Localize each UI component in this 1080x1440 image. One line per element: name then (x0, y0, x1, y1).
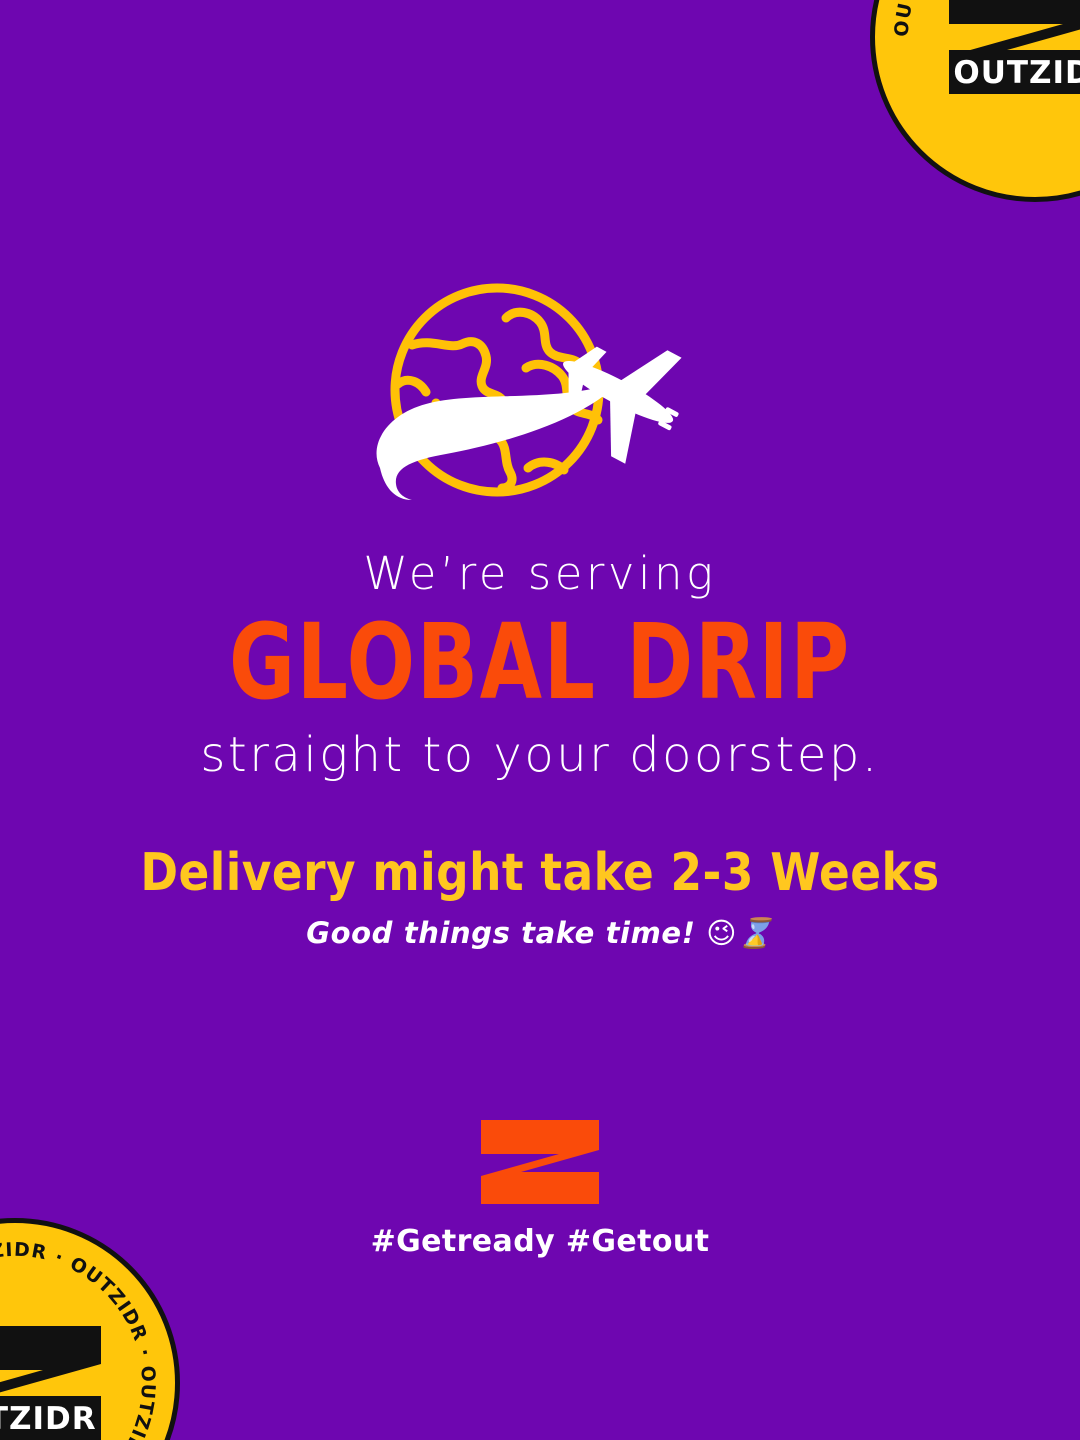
page-title: GLOBAL DRIP (76, 610, 1005, 714)
delivery-note: Delivery might take 2-3 Weeks (16, 845, 1064, 902)
outzidr-z-mark (477, 1118, 603, 1206)
outzidr-z-mark-black: OUTZIDR (937, 0, 1080, 98)
outzidr-z-mark-black: OUTZIDR (0, 1322, 113, 1440)
reassurance-text: Good things take time! 😉⌛ (0, 916, 1080, 951)
outzidr-sticker-badge-bottom-left: OUTZIDR · OUTZIDR · OUTZIDR · OUTZIDR · … (0, 1218, 180, 1440)
subhead-text: straight to your doorstep. (0, 728, 1080, 783)
brand-mark (477, 1118, 603, 1206)
badge-wordmark: OUTZIDR (953, 55, 1080, 91)
copy-block: We’re serving GLOBAL DRIP straight to yo… (0, 548, 1080, 951)
globe-airplane-illustration (350, 272, 730, 512)
badge-wordmark: OUTZIDR (0, 1401, 97, 1437)
badge-core-mark: OUTZIDR (937, 0, 1080, 98)
outzidr-sticker-badge-top-right: OUTZIDR · OUTZIDR · OUTZIDR · OUTZIDR · … (870, 0, 1080, 202)
badge-core-mark: OUTZIDR (0, 1322, 113, 1440)
globe-icon (350, 272, 730, 512)
airplane-icon (535, 310, 703, 475)
promo-poster: OUTZIDR · OUTZIDR · OUTZIDR · OUTZIDR · … (0, 0, 1080, 1440)
eyebrow-text: We’re serving (0, 548, 1080, 600)
